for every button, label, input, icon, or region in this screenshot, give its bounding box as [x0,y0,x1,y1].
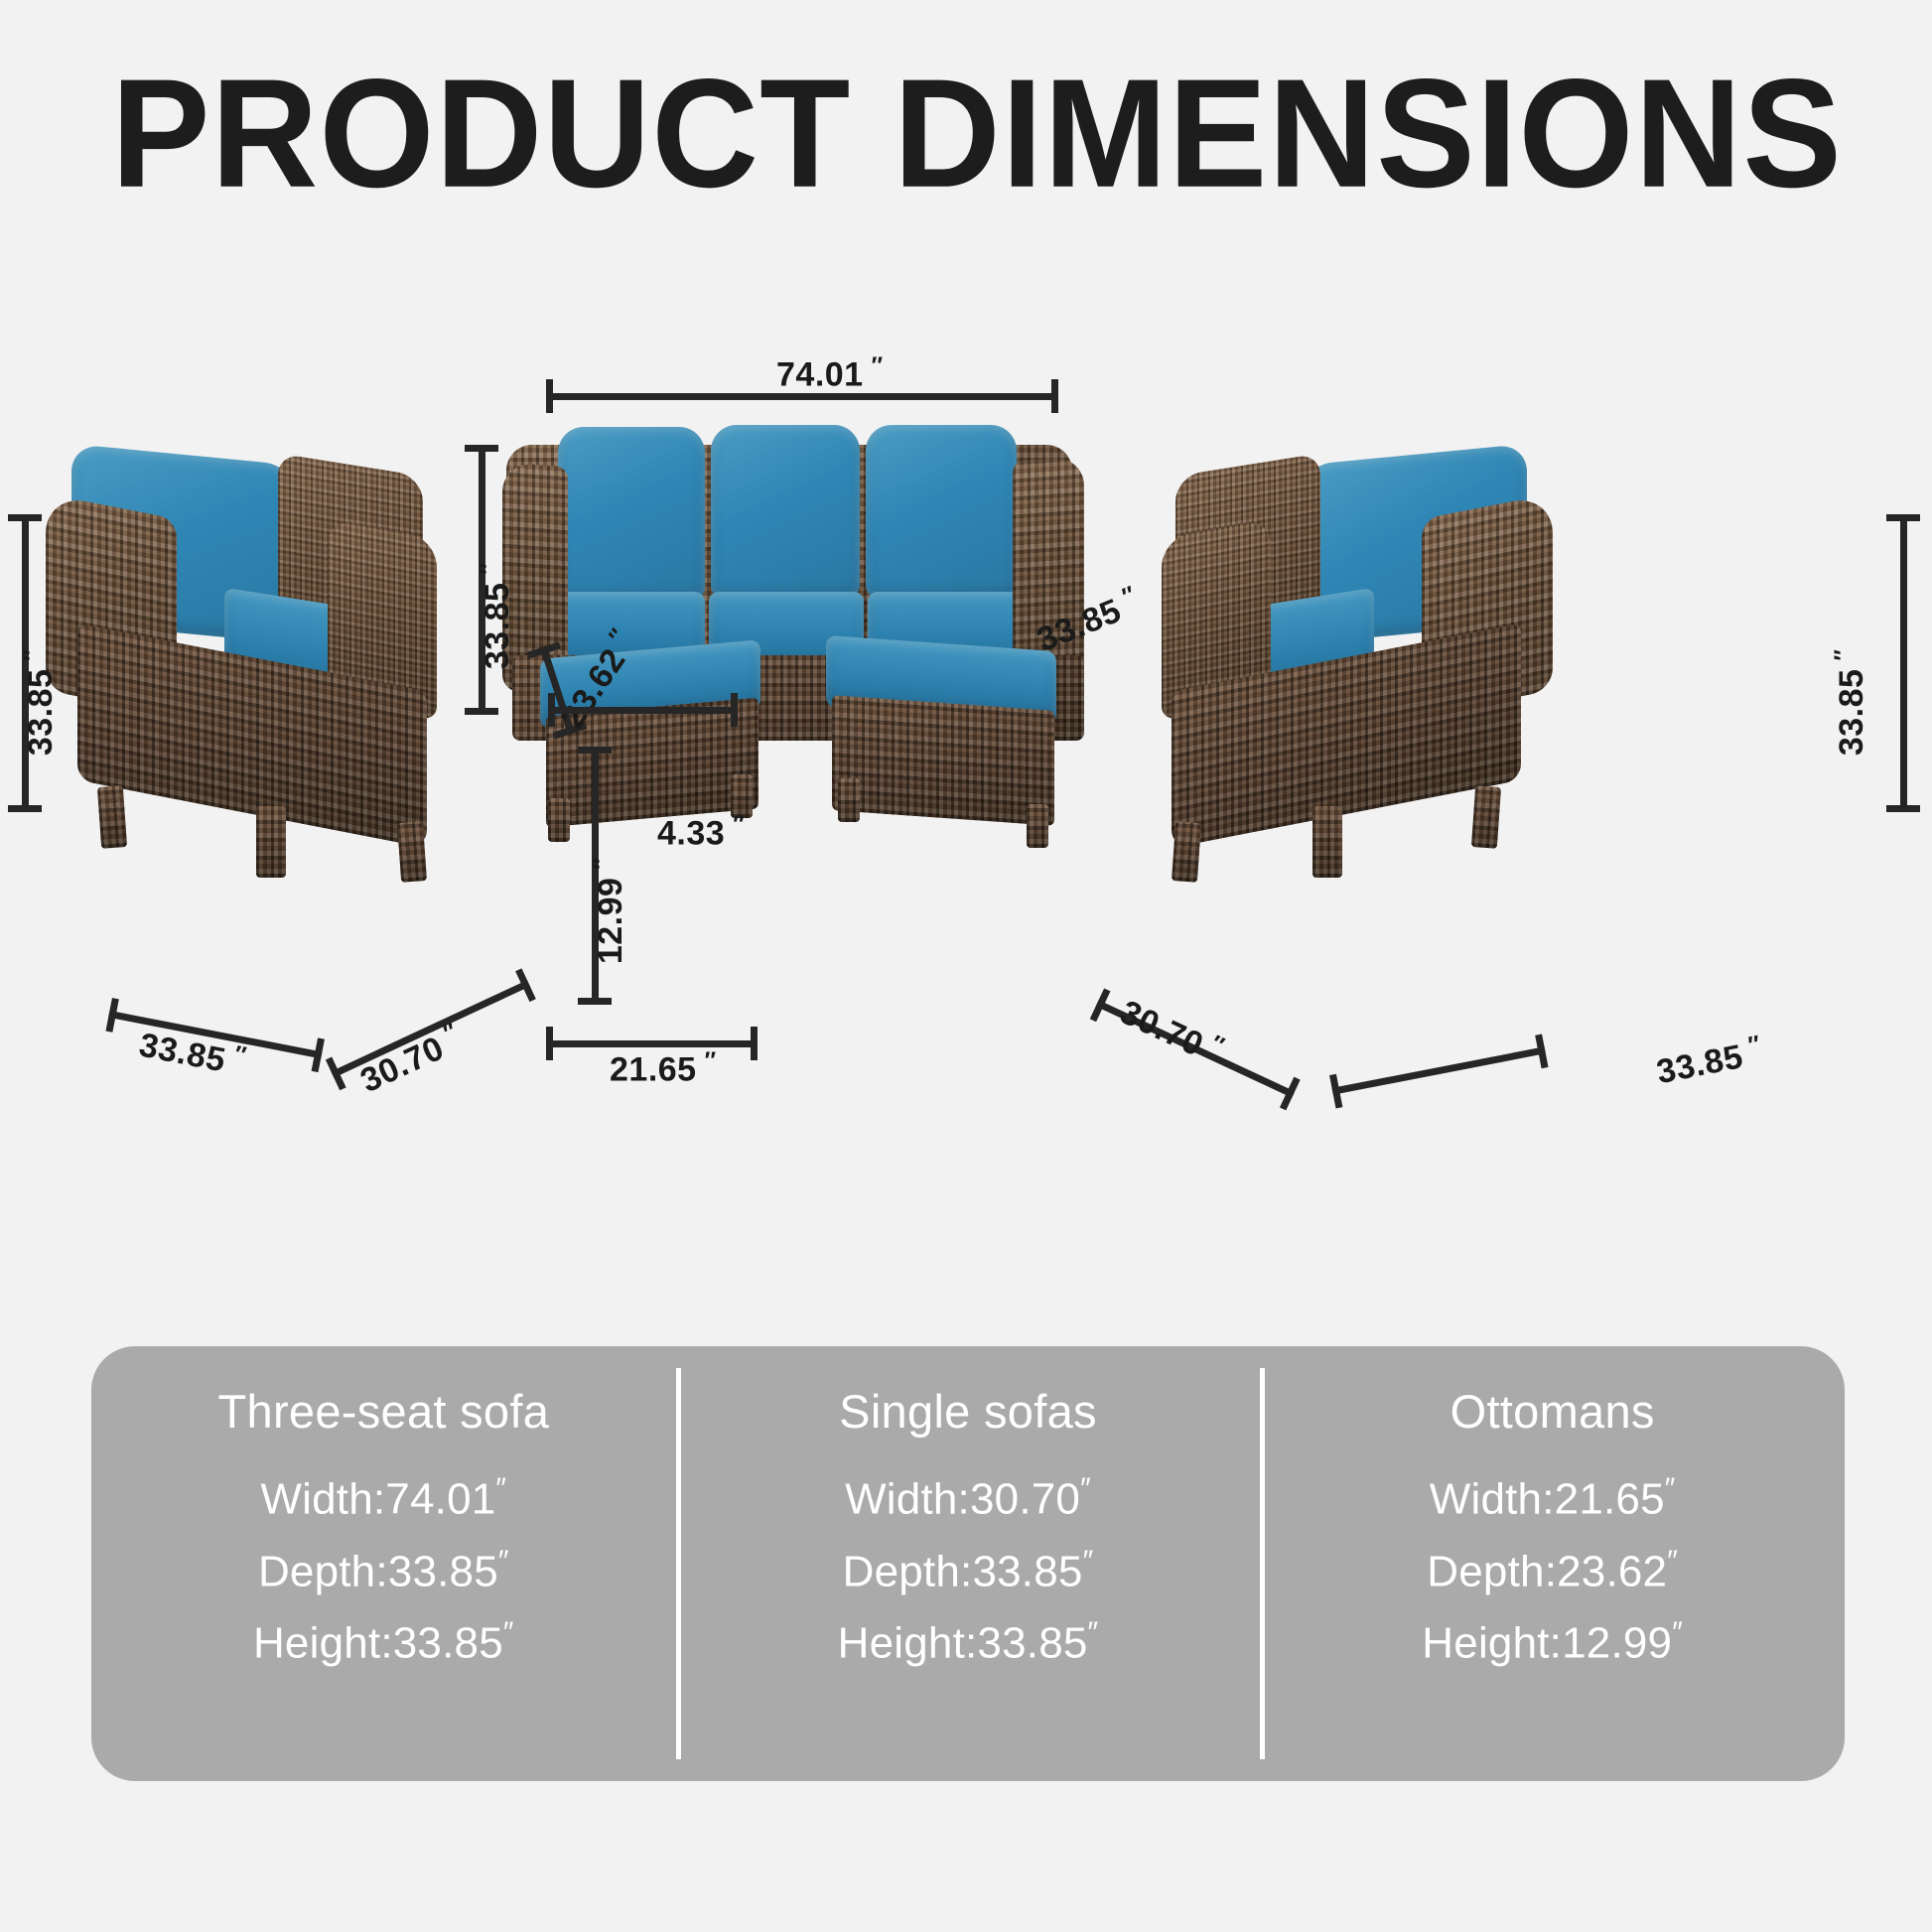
left-chair-back-leg [397,821,427,883]
right-chair-width-label: 33.85″ [1653,1031,1765,1092]
spec-column-title: Single sofas [839,1384,1097,1439]
spec-row-width: Width:30.70″ [845,1472,1091,1525]
spec-column-title: Three-seat sofa [218,1384,550,1439]
ottoman-thickness-rule [548,707,737,714]
spec-row-height: Height:12.99″ [1422,1616,1683,1669]
sofa-width-rule-cap-left [546,379,553,413]
spec-row-height: Height:33.85″ [838,1616,1099,1669]
spec-row-width: Width:74.01″ [260,1472,506,1525]
infographic-canvas: PRODUCT DIMENSIONS 33.85″ 33.85″ [0,0,1932,1932]
left-chair-illustration [30,437,496,1033]
page-title: PRODUCT DIMENSIONS [111,58,1932,209]
ottoman-right-leg-right [1027,804,1048,848]
ottoman-right-illustration [820,627,1068,836]
sofa-back-cushion-1 [558,427,705,601]
sofa-back-cushion-2 [711,425,860,599]
left-chair-height-label: 33.85″ [19,649,61,756]
spec-row-depth: Depth:33.85″ [258,1545,509,1597]
ottoman-thickness-label: 4.33″ [657,811,745,853]
ottoman-width-label: 21.65″ [610,1047,716,1089]
ottoman-right-leg-left [838,778,860,822]
left-chair-height-rule-cap-bottom [8,805,42,812]
right-chair-back-leg [1172,821,1201,883]
right-chair-height-rule-cap-top [1886,514,1920,521]
spec-column-title: Ottomans [1450,1384,1655,1439]
ottoman-thickness-rule-cap-left [548,693,555,727]
ottoman-height-rule-cap-bottom [578,998,612,1005]
right-chair-illustration [1102,437,1569,1033]
sofa-height-rule-cap-bottom [465,708,498,715]
right-chair-height-label-wrap: 33.85″ [1852,582,1893,688]
sofa-height-rule-cap-top [465,445,498,452]
sofa-height-label: 33.85″ [476,563,517,669]
ottoman-width-rule-cap-left [546,1027,553,1060]
spec-row-width: Width:21.65″ [1430,1472,1676,1525]
spec-row-depth: Depth:23.62″ [1427,1545,1678,1597]
spec-column-ottomans: Ottomans Width:21.65″ Depth:23.62″ Heigh… [1260,1346,1845,1781]
ottoman-height-label: 12.99″ [589,858,630,964]
spec-column-three-seat-sofa: Three-seat sofa Width:74.01″ Depth:33.85… [91,1346,676,1781]
right-chair-height-rule [1900,514,1907,812]
sofa-back-cushion-3 [866,425,1017,599]
ottoman-width-rule-cap-right [751,1027,758,1060]
ottoman-height-rule-cap-top [578,747,612,754]
ottoman-right-body [832,695,1054,826]
spec-panel: Three-seat sofa Width:74.01″ Depth:33.85… [91,1346,1845,1781]
spec-column-single-sofas: Single sofas Width:30.70″ Depth:33.85″ H… [676,1346,1261,1781]
sofa-width-rule-cap-right [1051,379,1058,413]
left-chair-front-leg [97,785,127,849]
ottoman-thickness-rule-cap-right [731,693,738,727]
right-chair-height-rule-cap-bottom [1886,805,1920,812]
left-chair-mid-leg [256,806,286,878]
right-chair-mid-leg [1312,806,1342,878]
sofa-width-label: 74.01″ [776,352,883,394]
right-chair-front-leg [1471,785,1501,849]
left-chair-height-rule-cap-top [8,514,42,521]
left-chair-height-label-wrap: 33.85″ [41,582,82,688]
spec-row-height: Height:33.85″ [253,1616,514,1669]
sofa-height-label-wrap: 33.85″ [497,495,539,602]
spec-row-depth: Depth:33.85″ [843,1545,1094,1597]
right-chair-width-rule-group [1330,1036,1568,1149]
right-chair-height-label: 33.85″ [1830,649,1871,756]
ottoman-width-rule [546,1040,757,1047]
ottoman-left-leg-left [548,798,570,842]
ottoman-height-label-wrap: 12.99″ [611,790,652,897]
